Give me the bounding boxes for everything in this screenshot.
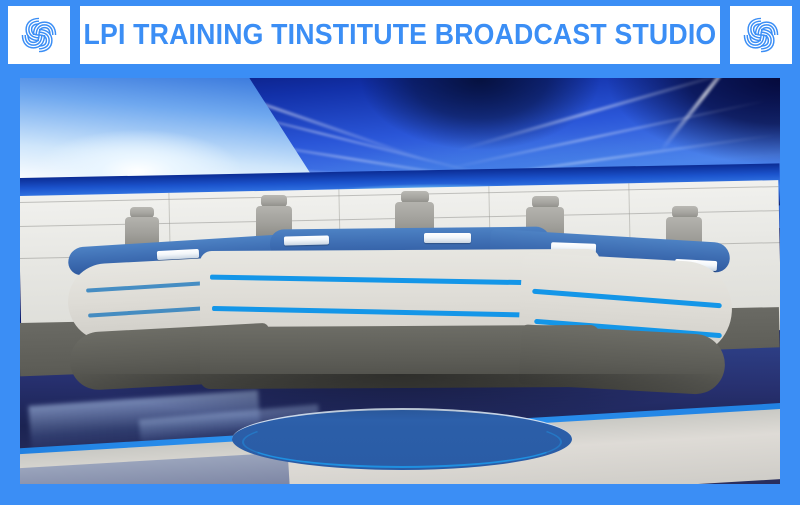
desk-oval-accent-ring [242,416,562,468]
studio-banner-page: LPI TRAINING TINSTITUTE BROADCAST STUDIO [0,0,800,505]
anchor-desk [20,78,780,484]
desk-floor-shadow [80,374,720,420]
desk-monitor-insert [424,233,471,243]
title-container: LPI TRAINING TINSTITUTE BROADCAST STUDIO [80,6,720,64]
header-bar: LPI TRAINING TINSTITUTE BROADCAST STUDIO [0,0,800,70]
lpi-celtic-knot-logo-icon [16,12,62,58]
logo-right-container [730,6,792,64]
lpi-celtic-knot-logo-icon [738,12,784,58]
studio-photo [20,78,780,484]
page-title: LPI TRAINING TINSTITUTE BROADCAST STUDIO [84,19,717,52]
logo-left-container [8,6,70,64]
desk-monitor-insert [284,235,329,245]
